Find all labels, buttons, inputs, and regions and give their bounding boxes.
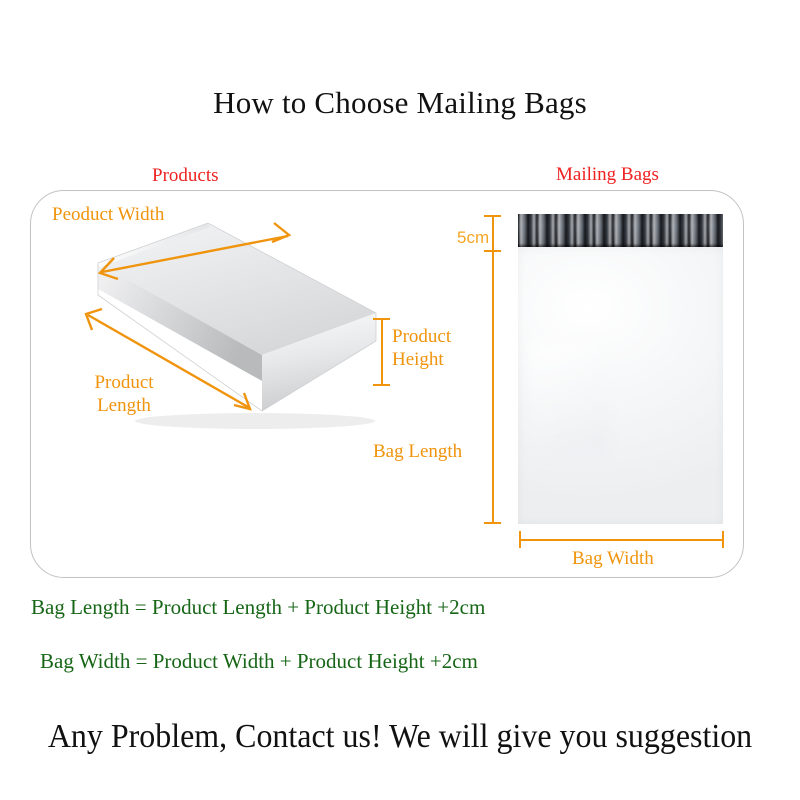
product-height-rule [381,318,383,386]
formula-bag-width: Bag Width = Product Width + Product Heig… [40,649,478,674]
product-height-label: Product Height [392,325,451,371]
bag-length-cap-bottom [484,522,501,524]
bag-flap-rule [492,215,494,252]
product-width-label: Peoduct Width [52,203,164,226]
bag-width-rule [519,539,724,541]
bag-width-cap-left [519,531,521,548]
product-height-cap-bottom [373,384,390,386]
mailing-bag-illustration [518,214,723,524]
product-width-arrow [84,222,324,282]
section-caption-mailing-bags: Mailing Bags [556,164,659,186]
bag-body [518,247,723,524]
bag-length-rule [492,250,494,524]
footer-contact-message: Any Problem, Contact us! We will give yo… [24,718,776,756]
bag-flap-cap-top [484,215,501,217]
product-height-cap-top [373,318,390,320]
bag-adhesive-flap [518,214,723,247]
product-length-label: Product Length [78,371,170,417]
bag-flap-label: 5cm [457,226,489,249]
section-caption-products: Products [152,165,219,187]
bag-width-cap-right [722,531,724,548]
infographic-page: How to Choose Mailing Bags Products Mail… [0,0,800,800]
page-title: How to Choose Mailing Bags [0,85,800,121]
formula-bag-length: Bag Length = Product Length + Product He… [31,595,485,620]
bag-length-label: Bag Length [373,440,462,463]
bag-width-label: Bag Width [572,547,654,570]
